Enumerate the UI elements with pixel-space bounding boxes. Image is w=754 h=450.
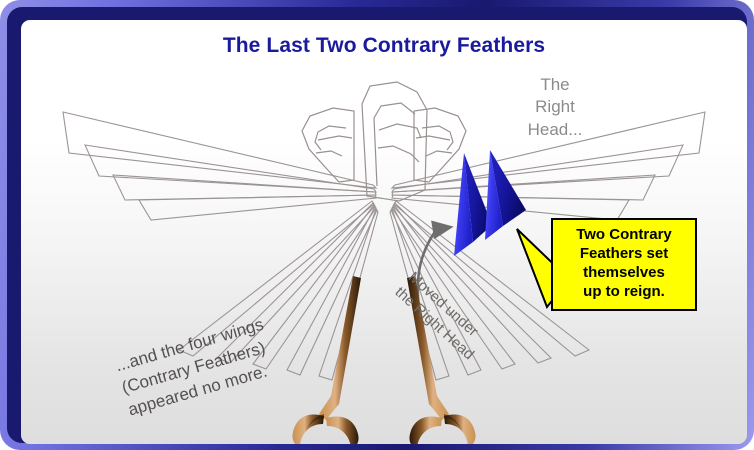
eagle-head-right — [414, 108, 466, 182]
callout-line-2: Feathers set — [559, 245, 689, 264]
moved-under-arrowhead — [426, 212, 455, 239]
decorative-inner-frame: The Last Two Contrary Feathers The Right… — [7, 7, 747, 443]
callout-line-3: themselves — [559, 264, 689, 283]
contrary-feather-1 — [454, 153, 492, 256]
callout-line-1: Two Contrary — [559, 226, 689, 245]
eagle-head-left — [302, 108, 354, 182]
contrary-feathers-callout: Two Contrary Feathers set themselves up … — [551, 218, 697, 311]
illustration-canvas: The Last Two Contrary Feathers The Right… — [21, 20, 747, 444]
right-head-line-1: The — [507, 74, 603, 96]
eagle-heads — [302, 82, 466, 201]
right-head-line-2: Right — [507, 96, 603, 118]
right-head-annotation: The Right Head... — [507, 74, 603, 141]
eagle-head-center — [362, 82, 427, 201]
page-title: The Last Two Contrary Feathers — [21, 34, 747, 58]
callout-line-4: up to reign. — [559, 283, 689, 302]
upper-wing-left — [63, 112, 376, 220]
diagram-screenshot: The Last Two Contrary Feathers The Right… — [0, 0, 754, 450]
decorative-outer-frame: The Last Two Contrary Feathers The Right… — [0, 0, 754, 450]
right-head-line-3: Head... — [507, 119, 603, 141]
